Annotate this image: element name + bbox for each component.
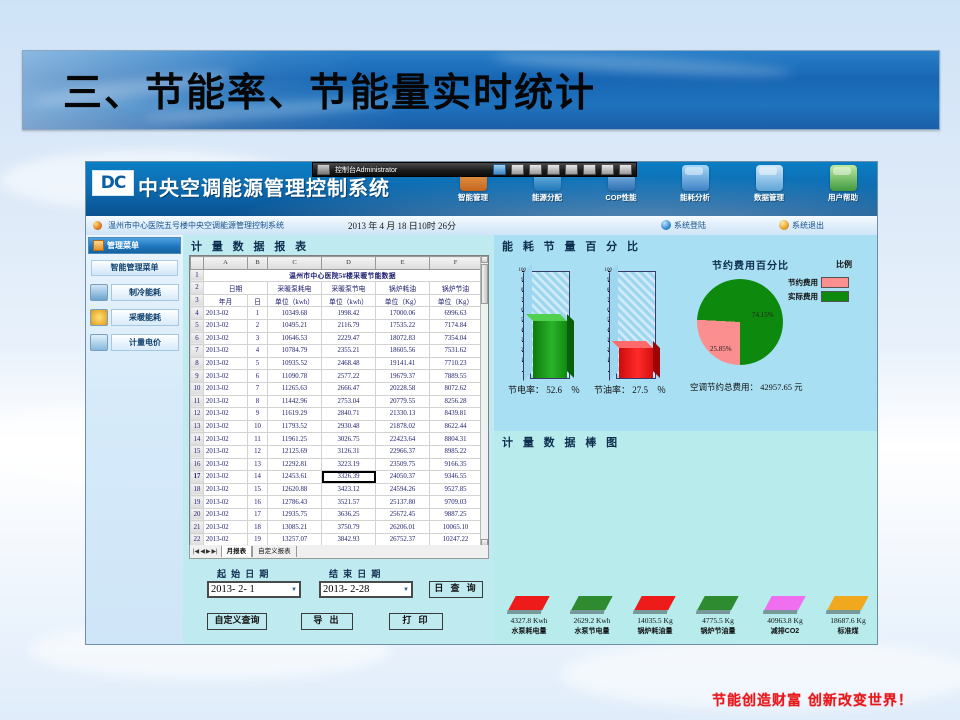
measurement-bar-group: 40963.8 Kg减排CO2 — [754, 596, 816, 636]
cell-year-month[interactable]: 2013-02 — [204, 471, 248, 484]
table-row: 112013-02811442.962753.0420779.558256.28 — [191, 395, 482, 408]
cell-pump-consumption[interactable]: 11793.52 — [268, 420, 322, 433]
table-row: 202013-021712935.753636.2525672.459887.2… — [191, 508, 482, 521]
cell-pump-consumption[interactable]: 11961.25 — [268, 433, 322, 446]
cell-boiler-savings[interactable]: 7889.55 — [430, 370, 482, 383]
row-header[interactable]: 11 — [191, 395, 204, 408]
measurement-bar — [508, 596, 549, 610]
cell-pump-consumption[interactable]: 10935.52 — [268, 357, 322, 370]
cell-year-month[interactable]: 2013-02 — [204, 395, 248, 408]
measurement-label: 减排CO2 — [754, 626, 816, 636]
header-boiler-consumption: 锅炉耗油 — [376, 282, 430, 295]
day-query-button[interactable]: 日 查 询 — [429, 581, 483, 598]
logout-icon[interactable] — [779, 220, 789, 230]
cell-day[interactable]: 13 — [248, 458, 268, 471]
start-date-label: 起 始 日 期 — [217, 567, 269, 580]
measurement-label: 锅炉节油量 — [687, 626, 749, 636]
monitor-icon[interactable] — [493, 164, 506, 175]
nav-item-user-help[interactable]: 用户帮助 — [813, 165, 873, 203]
cell-boiler-consumption[interactable]: 19679.37 — [376, 370, 430, 383]
cell-boiler-consumption[interactable]: 25137.80 — [376, 496, 430, 509]
nav-label: 智能管理 — [443, 192, 503, 203]
cell-day[interactable]: 12 — [248, 445, 268, 458]
cell-day[interactable]: 16 — [248, 496, 268, 509]
folder-icon — [756, 165, 783, 191]
cell-pump-savings[interactable]: 2666.47 — [322, 382, 376, 395]
custom-query-button[interactable]: 自定义查询 — [207, 613, 267, 630]
cell-year-month[interactable]: 2013-02 — [204, 345, 248, 358]
row-header[interactable]: 10 — [191, 382, 204, 395]
resize-icon[interactable] — [565, 164, 578, 175]
book-icon — [682, 165, 709, 191]
gauge-frame — [616, 271, 656, 379]
cell-boiler-savings[interactable]: 8256.28 — [430, 395, 482, 408]
cell-pump-savings[interactable]: 3423.12 — [322, 483, 376, 496]
cell-pump-consumption[interactable]: 13085.21 — [268, 521, 322, 534]
cell-day[interactable]: 18 — [248, 521, 268, 534]
sidebar-header: 管理菜单 — [88, 237, 181, 254]
row-header[interactable]: 17 — [191, 471, 204, 484]
gauge-frame — [530, 271, 570, 379]
cell-boiler-savings[interactable]: 9887.25 — [430, 508, 482, 521]
dc-logo: DC — [92, 170, 134, 196]
header-boiler-savings: 锅炉节油 — [430, 282, 482, 295]
cell-pump-savings[interactable]: 3636.25 — [322, 508, 376, 521]
cell-day[interactable]: 17 — [248, 508, 268, 521]
row-header[interactable]: 8 — [191, 357, 204, 370]
cell-boiler-savings[interactable]: 8439.81 — [430, 408, 482, 421]
header-unit-kwh: 单位（kwh） — [268, 294, 322, 307]
measurement-value: 18687.6 Kg — [817, 616, 878, 625]
cell-pump-consumption[interactable]: 12786.43 — [268, 496, 322, 509]
cell-day[interactable]: 1 — [248, 307, 268, 320]
start-date-value: 2013- 2- 1 — [211, 584, 255, 595]
measurement-bar-group: 14035.5 Kg锅炉耗油量 — [624, 596, 686, 636]
nav-label: 用户帮助 — [813, 192, 873, 203]
cell-boiler-savings[interactable]: 7531.62 — [430, 345, 482, 358]
table-row: 172013-021412453.613326.3924050.379346.5… — [191, 471, 482, 484]
cooling-icon — [90, 284, 108, 301]
header-pump-consumption: 采暖泵耗电 — [268, 282, 322, 295]
menu-icon — [93, 240, 104, 251]
row-header[interactable]: 2 — [191, 282, 204, 295]
measurement-bar — [764, 596, 805, 610]
gauge-electricity-saving-rate: 1009080 706050 403020 100 — [508, 271, 588, 401]
measurement-bar-chart-title: 计 量 数 据 棒 图 — [494, 431, 877, 450]
cell-pump-savings[interactable]: 1998.42 — [322, 307, 376, 320]
pie-slice-label-saved: 25.85% — [710, 345, 732, 353]
cell-day[interactable]: 15 — [248, 483, 268, 496]
table-row: 152013-021212125.693126.3122966.378985.2… — [191, 445, 482, 458]
row-header[interactable]: 13 — [191, 420, 204, 433]
measurement-value: 4775.5 Kg — [687, 616, 749, 625]
measurement-bar — [571, 596, 612, 610]
cell-boiler-savings[interactable]: 7354.04 — [430, 332, 482, 345]
cell-pump-savings[interactable]: 3126.31 — [322, 445, 376, 458]
cell-boiler-savings[interactable]: 8072.62 — [430, 382, 482, 395]
cell-day[interactable]: 3 — [248, 332, 268, 345]
cell-pump-savings[interactable]: 2840.71 — [322, 408, 376, 421]
table-row: 3 年月 日 单位（kwh） 单位（kwh） 单位（Kg） 单位（Kg） — [191, 294, 482, 307]
mouse-icon[interactable] — [511, 164, 524, 175]
cell-pump-savings[interactable]: 2753.04 — [322, 395, 376, 408]
measurement-value: 40963.8 Kg — [754, 616, 816, 625]
gauge-bar-green — [533, 321, 567, 378]
report-panel: 计 量 数 据 报 表 A B C D E F 1 温州市 — [183, 235, 495, 644]
cell-boiler-consumption[interactable]: 17000.06 — [376, 307, 430, 320]
cell-boiler-consumption[interactable]: 18605.56 — [376, 345, 430, 358]
nav-item-data-management[interactable]: 数据管理 — [739, 165, 799, 203]
cell-day[interactable]: 14 — [248, 471, 268, 484]
gauge-bar-red — [619, 348, 653, 378]
measurement-label: 锅炉耗油量 — [624, 626, 686, 636]
nav-label: 能源分配 — [517, 192, 577, 203]
cell-year-month[interactable]: 2013-02 — [204, 420, 248, 433]
table-row: 162013-021312292.813223.1923509.759166.3… — [191, 458, 482, 471]
header-year-month: 年月 — [204, 294, 248, 307]
row-header[interactable]: 6 — [191, 332, 204, 345]
table-row: 2 日期 采暖泵耗电 采暖泵节电 锅炉耗油 锅炉节油 — [191, 282, 482, 295]
price-icon — [90, 334, 108, 351]
cell-year-month[interactable]: 2013-02 — [204, 332, 248, 345]
cell-year-month[interactable]: 2013-02 — [204, 483, 248, 496]
sidebar-item-label: 计量电价 — [111, 334, 179, 351]
cell-boiler-savings[interactable]: 9527.85 — [430, 483, 482, 496]
cell-year-month[interactable]: 2013-02 — [204, 496, 248, 509]
cell-pump-savings[interactable]: 2930.48 — [322, 420, 376, 433]
row-header[interactable]: 3 — [191, 294, 204, 307]
cell-year-month[interactable]: 2013-02 — [204, 433, 248, 446]
cell-pump-consumption[interactable]: 10349.68 — [268, 307, 322, 320]
chevron-down-icon[interactable]: ▼ — [291, 587, 297, 593]
export-button[interactable]: 导 出 — [301, 613, 353, 630]
measurement-bar-chart-panel: 计 量 数 据 棒 图 4327.8 Kwh水泵耗电量2629.2 Kwh水泵节… — [494, 431, 877, 644]
table-row: 182013-021512620.883423.1224594.269527.8… — [191, 483, 482, 496]
cell-boiler-savings[interactable]: 8622.44 — [430, 420, 482, 433]
cell-day[interactable]: 7 — [248, 382, 268, 395]
cell-pump-consumption[interactable]: 10784.79 — [268, 345, 322, 358]
first-sheet-icon[interactable]: |◀ — [193, 548, 199, 555]
table-row: 72013-02410784.792355.2118605.567531.62 — [191, 345, 482, 358]
col-header-B[interactable]: B — [248, 257, 268, 270]
cell-pump-consumption[interactable]: 11619.29 — [268, 408, 322, 421]
nav-item-consumption-analysis[interactable]: 能耗分析 — [665, 165, 725, 203]
query-controls: 起 始 日 期 结 束 日 期 2013- 2- 1 ▼ 2013- 2-28 … — [189, 565, 487, 638]
cell-boiler-savings[interactable]: 7174.84 — [430, 319, 482, 332]
sidebar: 管理菜单 智能管理菜单 制冷能耗 采暖能耗 计量电价 — [86, 235, 184, 644]
pie-legend-item-saved: 节约费用 — [788, 277, 849, 288]
sidebar-item-heating[interactable]: 采暖能耗 — [90, 309, 179, 326]
header-unit-kwh: 单位（kwh） — [322, 294, 376, 307]
cell-year-month[interactable]: 2013-02 — [204, 319, 248, 332]
measurement-value: 2629.2 Kwh — [561, 616, 623, 625]
table-row: 102013-02711265.632666.4720228.588072.62 — [191, 382, 482, 395]
cell-pump-consumption[interactable]: 10495.21 — [268, 319, 322, 332]
hand-icon[interactable] — [583, 164, 596, 175]
cell-pump-savings[interactable]: 2355.21 — [322, 345, 376, 358]
legend-swatch-green — [821, 291, 849, 302]
sheet-tab-custom[interactable]: 自定义报表 — [252, 546, 297, 557]
energy-percentage-panel: 能 耗 节 量 百 分 比 1009080 706050 403020 100 — [494, 235, 877, 432]
measurement-bar — [634, 596, 675, 610]
legend-swatch-pink — [821, 277, 849, 288]
cell-pump-savings[interactable]: 3026.75 — [322, 433, 376, 446]
table-row: 212013-021813085.213750.7926206.0110065.… — [191, 521, 482, 534]
slide-title-banner: 三、节能率、节能量实时统计 — [22, 50, 940, 130]
login-icon[interactable] — [661, 220, 671, 230]
sidebar-subheader[interactable]: 智能管理菜单 — [91, 260, 178, 276]
cell-pump-consumption[interactable]: 12935.75 — [268, 508, 322, 521]
cell-boiler-consumption[interactable]: 21878.02 — [376, 420, 430, 433]
cell-boiler-savings[interactable]: 6996.63 — [430, 307, 482, 320]
cell-year-month[interactable]: 2013-02 — [204, 508, 248, 521]
cell-day[interactable]: 4 — [248, 345, 268, 358]
application-window: 控制台Administrator DC 中央空调能源管理控制系统 智能管理 能源… — [85, 161, 878, 645]
row-header[interactable]: 16 — [191, 458, 204, 471]
column-header-row: A B C D E F — [191, 257, 482, 270]
sidebar-item-label: 制冷能耗 — [111, 284, 179, 301]
measurement-label: 水泵节电量 — [561, 626, 623, 636]
cell-boiler-savings[interactable]: 9166.35 — [430, 458, 482, 471]
cell-boiler-consumption[interactable]: 20228.58 — [376, 382, 430, 395]
table-row: 132013-021011793.522930.4821878.028622.4… — [191, 420, 482, 433]
cell-boiler-consumption[interactable]: 17535.22 — [376, 319, 430, 332]
prev-sheet-icon[interactable]: ◀ — [200, 548, 205, 555]
cell-pump-consumption[interactable]: 11442.96 — [268, 395, 322, 408]
header-day: 日 — [248, 294, 268, 307]
table-row: 142013-021111961.253026.7522423.648804.3… — [191, 433, 482, 446]
cell-boiler-savings[interactable]: 8804.31 — [430, 433, 482, 446]
system-login-link[interactable]: 系统登陆 — [674, 220, 706, 231]
measurement-label: 水泵耗电量 — [498, 626, 560, 636]
row-header[interactable]: 7 — [191, 345, 204, 358]
row-header[interactable]: 12 — [191, 408, 204, 421]
spreadsheet[interactable]: A B C D E F 1 温州市中心医院5#楼采暖节能数据 2 日期 采暖泵耗… — [189, 255, 489, 547]
cell-pump-consumption[interactable]: 11090.78 — [268, 370, 322, 383]
cell-day[interactable]: 8 — [248, 395, 268, 408]
sidebar-item-price[interactable]: 计量电价 — [90, 334, 179, 351]
cell-pump-consumption[interactable]: 11265.63 — [268, 382, 322, 395]
status-strip: 温州市中心医院五号楼中央空调能源管理控制系统 2013 年 4 月 18 日10… — [86, 216, 877, 236]
monitor-icon — [317, 164, 330, 175]
cell-pump-savings[interactable]: 3326.39 — [322, 471, 376, 484]
spreadsheet-grid: A B C D E F 1 温州市中心医院5#楼采暖节能数据 2 日期 采暖泵耗… — [190, 256, 482, 547]
print-button[interactable]: 打 印 — [389, 613, 443, 630]
sidebar-header-label: 管理菜单 — [107, 240, 139, 251]
cell-day[interactable]: 11 — [248, 433, 268, 446]
table-row: 192013-021612786.433521.5725137.809709.0… — [191, 496, 482, 509]
nav-label: 能耗分析 — [665, 192, 725, 203]
measurement-label: 标准煤 — [817, 626, 878, 636]
cell-pump-savings[interactable]: 3521.57 — [322, 496, 376, 509]
chevron-down-icon[interactable]: ▼ — [403, 587, 409, 593]
table-row: 92013-02611090.782577.2219679.377889.55 — [191, 370, 482, 383]
end-date-picker[interactable]: 2013- 2-28 ▼ — [319, 581, 413, 598]
cell-pump-consumption[interactable]: 12620.88 — [268, 483, 322, 496]
corner-cell — [191, 257, 204, 270]
speaker-icon[interactable] — [619, 164, 632, 175]
cell-year-month[interactable]: 2013-02 — [204, 357, 248, 370]
cell-boiler-consumption[interactable]: 22423.64 — [376, 433, 430, 446]
spreadsheet-data-rows: 42013-02110349.681998.4217000.066996.635… — [191, 307, 482, 546]
next-sheet-icon[interactable]: ▶ — [206, 548, 211, 555]
measurement-bar-group: 18687.6 Kg标准煤 — [817, 596, 878, 636]
charts-column: 能 耗 节 量 百 分 比 1009080 706050 403020 100 — [494, 235, 877, 644]
cell-boiler-savings[interactable]: 9709.03 — [430, 496, 482, 509]
vertical-scrollbar[interactable] — [480, 256, 488, 546]
scroll-up-button[interactable] — [481, 256, 488, 263]
total-savings-label: 空调节约总费用： 42957.65 元 — [690, 381, 803, 393]
legend-label: 节约费用 — [788, 277, 818, 288]
measurement-value: 4327.8 Kwh — [498, 616, 560, 625]
cell-boiler-consumption[interactable]: 25672.45 — [376, 508, 430, 521]
col-header-F[interactable]: F — [430, 257, 482, 270]
cell-boiler-consumption[interactable]: 24594.26 — [376, 483, 430, 496]
user-icon — [830, 165, 857, 191]
col-header-C[interactable]: C — [268, 257, 322, 270]
row-header[interactable]: 15 — [191, 445, 204, 458]
cell-year-month[interactable]: 2013-02 — [204, 382, 248, 395]
cell-boiler-savings[interactable]: 10065.10 — [430, 521, 482, 534]
last-sheet-icon[interactable]: ▶| — [211, 548, 217, 555]
col-header-A[interactable]: A — [204, 257, 248, 270]
start-date-picker[interactable]: 2013- 2- 1 ▼ — [207, 581, 301, 598]
measurement-value: 14035.5 Kg — [624, 616, 686, 625]
table-row: 82013-02510935.522468.4819141.417710.23 — [191, 357, 482, 370]
pie-legend-title: 比例 — [836, 259, 852, 270]
measurement-bar — [697, 596, 738, 610]
cell-pump-savings[interactable]: 2116.79 — [322, 319, 376, 332]
cell-day[interactable]: 2 — [248, 319, 268, 332]
system-name: 温州市中心医院五号楼中央空调能源管理控制系统 — [108, 220, 284, 231]
gauge-oil-saving-rate: 1009080 706050 403020 100 — [594, 271, 674, 401]
cell-year-month[interactable]: 2013-02 — [204, 445, 248, 458]
keyboard-icon[interactable] — [601, 164, 614, 175]
key-icon[interactable] — [547, 164, 560, 175]
cell-boiler-savings[interactable]: 9346.55 — [430, 471, 482, 484]
cell-pump-savings[interactable]: 2468.48 — [322, 357, 376, 370]
sidebar-item-cooling[interactable]: 制冷能耗 — [90, 284, 179, 301]
col-header-D[interactable]: D — [322, 257, 376, 270]
col-header-E[interactable]: E — [376, 257, 430, 270]
system-datetime: 2013 年 4 月 18 日10时 26分 — [348, 219, 456, 232]
sheet-tab-monthly[interactable]: 月报表 — [221, 546, 253, 557]
cell-boiler-consumption[interactable]: 18072.83 — [376, 332, 430, 345]
cell-day[interactable]: 6 — [248, 370, 268, 383]
cell-boiler-consumption[interactable]: 23509.75 — [376, 458, 430, 471]
header-pump-savings: 采暖泵节电 — [322, 282, 376, 295]
table-row: 1 温州市中心医院5#楼采暖节能数据 — [191, 269, 482, 282]
row-header[interactable]: 1 — [191, 269, 204, 282]
remote-console-label: 控制台Administrator — [335, 165, 397, 175]
row-header[interactable]: 21 — [191, 521, 204, 534]
row-header[interactable]: 14 — [191, 433, 204, 446]
cell-pump-savings[interactable]: 2229.47 — [322, 332, 376, 345]
cell-boiler-savings[interactable]: 8985.22 — [430, 445, 482, 458]
cell-pump-consumption[interactable]: 12292.81 — [268, 458, 322, 471]
measurement-bar-group: 2629.2 Kwh水泵节电量 — [561, 596, 623, 636]
table-row: 52013-02210495.212116.7917535.227174.84 — [191, 319, 482, 332]
system-logout-link[interactable]: 系统退出 — [792, 220, 824, 231]
oil-saving-rate-label: 节油率： 27.5 ％ — [594, 383, 666, 396]
row-header[interactable]: 9 — [191, 370, 204, 383]
cell-pump-consumption[interactable]: 10646.53 — [268, 332, 322, 345]
slide-title: 三、节能率、节能量实时统计 — [63, 62, 596, 118]
cell-year-month[interactable]: 2013-02 — [204, 370, 248, 383]
cell-boiler-consumption[interactable]: 26206.01 — [376, 521, 430, 534]
cell-pump-savings[interactable]: 3223.19 — [322, 458, 376, 471]
header-unit-kg: 单位（Kg） — [430, 294, 482, 307]
cell-day[interactable]: 9 — [248, 408, 268, 421]
end-date-label: 结 束 日 期 — [329, 567, 381, 580]
header-unit-kg: 单位（Kg） — [376, 294, 430, 307]
cell-pump-consumption[interactable]: 12125.69 — [268, 445, 322, 458]
cell-year-month[interactable]: 2013-02 — [204, 408, 248, 421]
scrollbar-thumb[interactable] — [481, 264, 488, 304]
measurement-bar-group: 4775.5 Kg锅炉节油量 — [687, 596, 749, 636]
nav-label: 数据管理 — [739, 192, 799, 203]
sidebar-item-label: 采暖能耗 — [111, 309, 179, 326]
nav-label: COP性能 — [591, 192, 651, 203]
footer-slogan: 节能创造财富 创新改变世界！ — [712, 690, 913, 710]
cell-day[interactable]: 5 — [248, 357, 268, 370]
app-bullet-icon — [93, 221, 102, 230]
cell-boiler-consumption[interactable]: 21330.13 — [376, 408, 430, 421]
cell-year-month[interactable]: 2013-02 — [204, 521, 248, 534]
remote-console-toolbar[interactable]: 控制台Administrator — [312, 162, 637, 177]
table-row: 122013-02911619.292840.7121330.138439.81 — [191, 408, 482, 421]
row-header[interactable]: 19 — [191, 496, 204, 509]
cell-boiler-consumption[interactable]: 24050.37 — [376, 471, 430, 484]
row-header[interactable]: 5 — [191, 319, 204, 332]
row-header[interactable]: 18 — [191, 483, 204, 496]
legend-label: 实际费用 — [788, 291, 818, 302]
pie-chart-title: 节约费用百分比 — [712, 257, 789, 272]
cell-pump-savings[interactable]: 2577.22 — [322, 370, 376, 383]
cell-boiler-consumption[interactable]: 22966.37 — [376, 445, 430, 458]
sheet-tab-bar: |◀ ◀ ▶ ▶| 月报表 自定义报表 — [189, 545, 489, 559]
pie-slice-label-actual: 74.15% — [752, 311, 774, 319]
energy-percentage-title: 能 耗 节 量 百 分 比 — [494, 235, 877, 254]
row-header[interactable]: 4 — [191, 307, 204, 320]
cell-pump-consumption[interactable]: 12453.61 — [268, 471, 322, 484]
heating-icon — [90, 309, 108, 326]
table-row: 42013-02110349.681998.4217000.066996.63 — [191, 307, 482, 320]
folder-icon[interactable] — [529, 164, 542, 175]
cell-boiler-consumption[interactable]: 20779.55 — [376, 395, 430, 408]
cell-pump-savings[interactable]: 3750.79 — [322, 521, 376, 534]
cell-boiler-consumption[interactable]: 19141.41 — [376, 357, 430, 370]
cell-boiler-savings[interactable]: 7710.23 — [430, 357, 482, 370]
measurement-bar — [827, 596, 868, 610]
end-date-value: 2013- 2-28 — [323, 584, 369, 595]
table-row: 62013-02310646.532229.4718072.837354.04 — [191, 332, 482, 345]
sheet-title-cell: 温州市中心医院5#楼采暖节能数据 — [204, 269, 482, 282]
sheet-nav-buttons[interactable]: |◀ ◀ ▶ ▶| — [190, 548, 221, 555]
cell-year-month[interactable]: 2013-02 — [204, 307, 248, 320]
cell-year-month[interactable]: 2013-02 — [204, 458, 248, 471]
pie-legend-item-actual: 实际费用 — [788, 291, 849, 302]
cell-day[interactable]: 10 — [248, 420, 268, 433]
header-date: 日期 — [204, 282, 268, 295]
row-header[interactable]: 20 — [191, 508, 204, 521]
report-panel-title: 计 量 数 据 报 表 — [183, 235, 494, 256]
electricity-saving-rate-label: 节电率： 52.6 ％ — [508, 383, 580, 396]
measurement-bar-group: 4327.8 Kwh水泵耗电量 — [498, 596, 560, 636]
